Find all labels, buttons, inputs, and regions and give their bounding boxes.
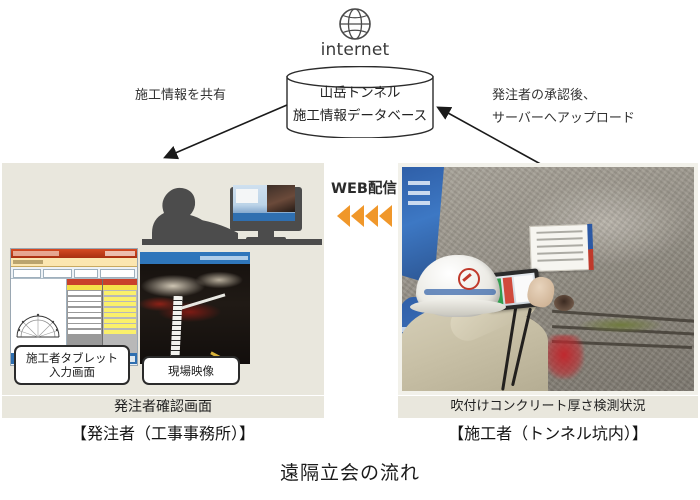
diagram-canvas: internet 山岳トンネル 施工情報データベース 施工情報を共有 発注者の承… [0, 0, 700, 500]
chevron-left-icon [365, 205, 378, 227]
app-menubar [11, 258, 137, 267]
drill-hole [554, 295, 574, 311]
app-field-row [11, 267, 137, 279]
right-panel-sub-caption: 吹付けコンクリート厚さ検測状況 [398, 396, 698, 418]
diagram-title: 遠隔立会の流れ [0, 458, 700, 485]
left-panel-sub-caption: 発注者確認画面 [2, 396, 324, 418]
wall-moss [578, 317, 664, 333]
upload-info-label: 発注者の承認後、 サーバーへアップロード [492, 84, 692, 130]
chevron-left-icon [337, 205, 350, 227]
app-body [11, 279, 137, 353]
field-video-photo [140, 252, 250, 364]
web-delivery-label: WEB配信 [323, 177, 405, 198]
callout-tablet-input: 施工者タブレット 入力画面 [14, 345, 130, 385]
chevron-left-icon [379, 205, 392, 227]
red-paint-mark [544, 335, 584, 379]
site-inspection-photo [402, 167, 694, 391]
left-panel-main-caption: 【発注者（工事事務所）】 [2, 420, 324, 444]
database-label-line1: 山岳トンネル [286, 82, 434, 105]
app-data-table-left [67, 279, 103, 353]
web-delivery-arrows [326, 203, 402, 229]
globe-icon [337, 6, 373, 42]
chevron-left-icon [351, 205, 364, 227]
tunnel-section-diagram [11, 279, 67, 353]
app-data-table-right [103, 279, 137, 353]
upload-label-line1: 発注者の承認後、 [492, 84, 692, 107]
callout-field-video: 現場映像 [142, 356, 240, 385]
share-info-label: 施工情報を共有 [135, 84, 295, 103]
callout-tablet-line1: 施工者タブレット [26, 351, 118, 365]
app-titlebar [11, 249, 137, 258]
database-label-line2: 施工情報データベース [286, 105, 434, 128]
wall-sign [529, 224, 591, 272]
callout-tablet-line2: 入力画面 [26, 365, 118, 379]
tunnel-site-panel [398, 163, 698, 395]
internet-label: internet [300, 40, 410, 60]
right-panel-main-caption: 【施工者（トンネル坑内）】 [398, 420, 698, 444]
monitor-screen-preview [233, 185, 295, 221]
database-label: 山岳トンネル 施工情報データベース [286, 82, 434, 128]
upload-label-line2: サーバーへアップロード [492, 107, 692, 130]
